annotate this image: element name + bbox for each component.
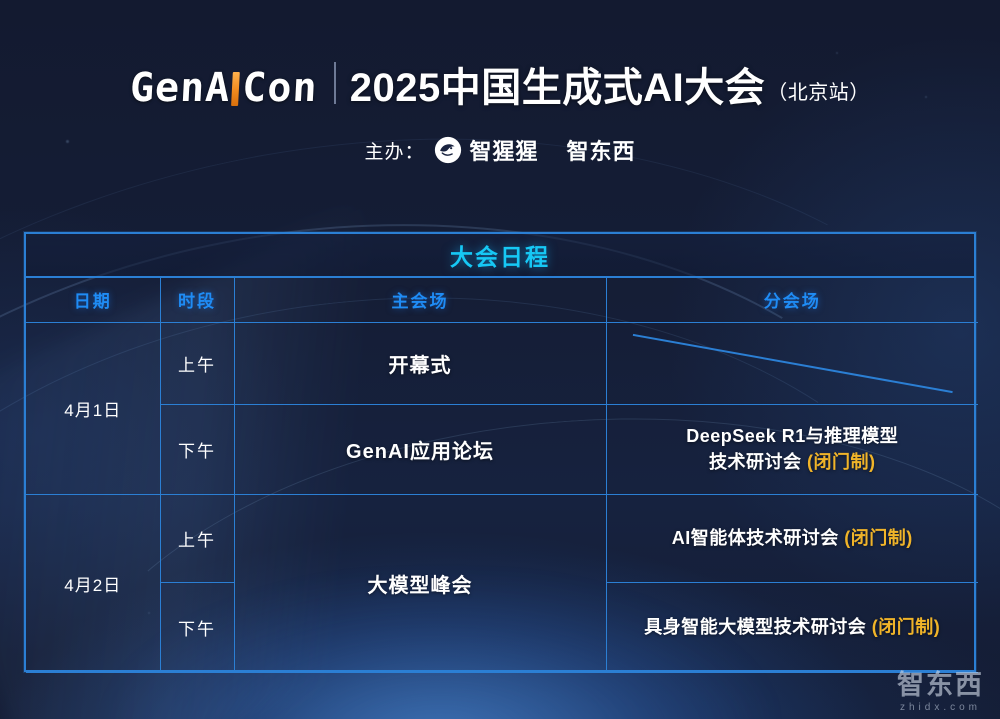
cell-slot-morning-day1: 上午 [160, 322, 234, 404]
column-header-main: 主会场 [234, 278, 606, 322]
sub-line-2: 技术研讨会 [709, 452, 807, 472]
schedule-table-body: 4月1日 上午 开幕式 下午 GenAI应用论坛 DeepSeek R1与推理模… [26, 322, 978, 672]
host-brand-zhixingxing: 智猩猩 [434, 134, 538, 166]
logo-con-text: Con [241, 65, 319, 111]
schedule-table-head: 日期 时段 主会场 分会场 [26, 278, 978, 322]
closed-door-badge: (闭门制) [844, 528, 913, 548]
cell-slot-afternoon-day2: 下午 [160, 582, 234, 672]
host-name-1: 智猩猩 [469, 134, 538, 166]
cell-sub-deepseek-workshop: DeepSeek R1与推理模型 技术研讨会 (闭门制) [606, 404, 978, 494]
cell-date-day1: 4月1日 [26, 322, 160, 494]
cell-main-genai-forum: GenAI应用论坛 [234, 404, 606, 494]
ape-head-icon [434, 136, 462, 164]
cell-slot-afternoon-day1: 下午 [160, 404, 234, 494]
cell-main-llm-summit: 大模型峰会 [234, 494, 606, 672]
page-header: GenACon 2025中国生成式AI大会 （北京站） 主办： 智猩猩 智东西 [0, 0, 1000, 166]
host-label: 主办： [364, 137, 424, 164]
cell-sub-agent-workshop: AI智能体技术研讨会 (闭门制) [606, 494, 978, 582]
table-row: 4月2日 上午 大模型峰会 AI智能体技术研讨会 (闭门制) [26, 494, 978, 582]
table-row: 下午 GenAI应用论坛 DeepSeek R1与推理模型 技术研讨会 (闭门制… [26, 404, 978, 494]
cell-main-opening: 开幕式 [234, 322, 606, 404]
closed-door-badge: (闭门制) [807, 452, 876, 472]
logo-i-bar [232, 72, 241, 106]
title-divider [334, 62, 336, 104]
title-row: GenACon 2025中国生成式AI大会 （北京站） [0, 0, 1000, 108]
sub-line-1: 具身智能大模型技术研讨会 [644, 617, 872, 637]
cell-sub-embodied-ai-workshop: 具身智能大模型技术研讨会 (闭门制) [606, 582, 978, 672]
cell-slot-morning-day2: 上午 [160, 494, 234, 582]
schedule-table-container: 大会日程 日期 时段 主会场 分会场 4月1日 上午 开幕式 [24, 232, 976, 672]
column-header-slot: 时段 [160, 278, 234, 322]
city-tag: （北京站） [767, 76, 870, 108]
closed-door-badge: (闭门制) [872, 617, 941, 637]
column-header-date: 日期 [26, 278, 160, 322]
sub-line-1: DeepSeek R1与推理模型 [686, 426, 898, 446]
logo-gen-text: Gen [129, 65, 207, 111]
host-row: 主办： 智猩猩 智东西 [0, 134, 1000, 166]
sub-line-1: AI智能体技术研讨会 [672, 528, 845, 548]
logo-a-text: A [204, 65, 232, 111]
column-header-sub: 分会场 [606, 278, 978, 322]
table-header-row: 日期 时段 主会场 分会场 [26, 278, 978, 322]
schedule-table: 日期 时段 主会场 分会场 4月1日 上午 开幕式 下午 [26, 278, 978, 673]
page-title: 2025中国生成式AI大会 [350, 68, 765, 108]
cell-date-day2: 4月2日 [26, 494, 160, 672]
cell-sub-empty-diagonal [606, 322, 978, 404]
table-row: 4月1日 上午 开幕式 [26, 322, 978, 404]
diagonal-strike-icon [607, 323, 979, 404]
schedule-title-text: 大会日程 [450, 238, 550, 272]
schedule-band-title: 大会日程 [26, 234, 974, 278]
host-name-2: 智东西 [567, 134, 636, 166]
genaicon-logo: GenACon [129, 68, 319, 108]
